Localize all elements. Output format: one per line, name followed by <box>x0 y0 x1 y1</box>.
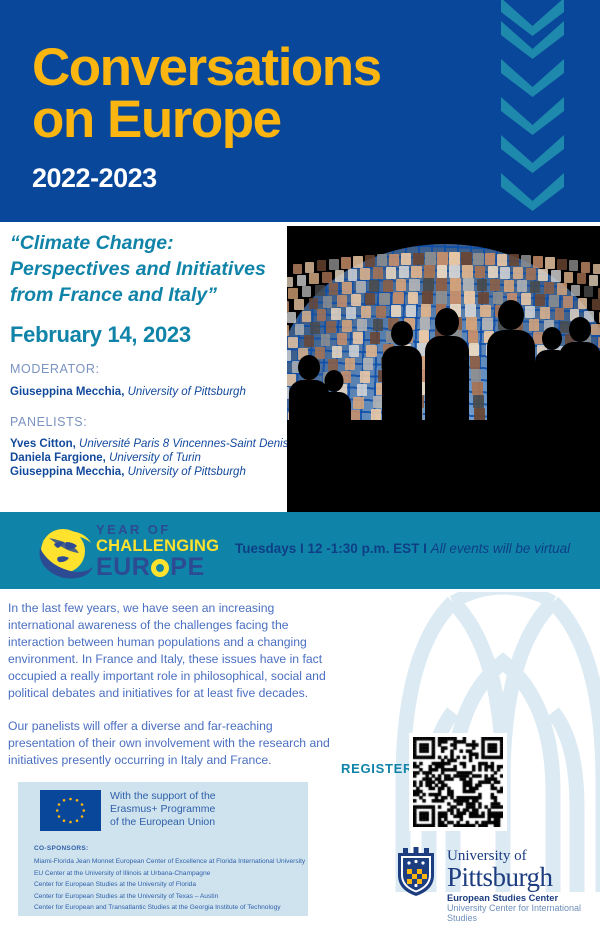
eu-support-line-1: With the support of the <box>110 790 216 803</box>
panelist-name: Yves Citton, <box>10 438 76 450</box>
list-item: EU Center at the University of Illinois … <box>34 868 302 880</box>
list-item: Miami-Florida Jean Monnet European Cente… <box>34 856 302 868</box>
moderator-label: MODERATOR: <box>10 362 100 376</box>
panelist-affiliation: Université Paris 8 Vincennes-Saint Denis <box>79 438 288 450</box>
list-item: Center for European Studies at the Unive… <box>34 891 302 903</box>
title-line-2: on Europe <box>32 94 462 146</box>
cosponsors-heading: CO-SPONSORS: <box>34 845 89 852</box>
event-info-panel: “Climate Change: Perspectives and Initia… <box>0 222 287 512</box>
sponsors-panel: With the support of the Erasmus+ Program… <box>18 782 308 916</box>
talk-title-line-3: from France and Italy” <box>10 282 290 308</box>
panelist-name: Giuseppina Mecchia, <box>10 466 124 478</box>
talk-title-line-2: Perspectives and Initiatives <box>10 256 290 282</box>
description-text: In the last few years, we have seen an i… <box>8 600 338 785</box>
challenging-europe-wordmark: YEAR OF CHALLENGING EUR PE <box>96 523 226 580</box>
challenging-europe-logo: YEAR OF CHALLENGING EUR PE <box>34 516 224 586</box>
schedule-time: Tuesdays I 12 -1:30 p.m. EST I <box>235 541 431 556</box>
pitt-ucis-label: University Center for International Stud… <box>447 903 595 923</box>
eu-flag-icon <box>40 790 101 831</box>
talk-title-line-1: “Climate Change: <box>10 230 290 256</box>
panelist-affiliation: University of Pittsburgh <box>128 466 246 478</box>
chevron-down-icon <box>495 19 570 59</box>
title-line-1: Conversations <box>32 42 462 94</box>
logo-europe-prefix: EUR <box>96 555 150 580</box>
event-date: February 14, 2023 <box>10 322 191 348</box>
season-label: 2022-2023 <box>32 163 157 194</box>
eu-support-text: With the support of the Erasmus+ Program… <box>110 790 216 829</box>
moderator-entry: Giuseppina Mecchia, University of Pittsb… <box>10 385 246 400</box>
cosponsors-list: Miami-Florida Jean Monnet European Cente… <box>34 856 302 914</box>
panelists-label: PANELISTS: <box>10 415 87 429</box>
header-banner: Conversations on Europe 2022-2023 <box>0 0 600 222</box>
logo-line-year-of: YEAR OF <box>96 523 226 537</box>
description-paragraph-1: In the last few years, we have seen an i… <box>8 600 338 702</box>
schedule-text: Tuesdays I 12 -1:30 p.m. EST I All event… <box>235 541 570 556</box>
eu-support-line-2: Erasmus+ Programme <box>110 803 216 816</box>
logo-europe-suffix: PE <box>170 555 204 580</box>
eu-support-line-3: of the European Union <box>110 816 216 829</box>
pitt-european-studies-center-label: European Studies Center <box>447 893 558 903</box>
chevron-decoration <box>495 0 575 226</box>
talk-title: “Climate Change: Perspectives and Initia… <box>10 230 290 308</box>
logo-europe-o-ring <box>151 559 169 577</box>
logo-line-europe: EUR PE <box>96 555 226 580</box>
pitt-name-label: Pittsburgh <box>447 862 553 892</box>
schedule-note: All events will be virtual <box>431 541 571 556</box>
panelist-entry: Daniela Fargione, University of Turin <box>10 451 201 466</box>
list-item: Center for European and Transatlantic St… <box>34 902 302 914</box>
description-paragraph-2: Our panelists will offer a diverse and f… <box>8 718 338 769</box>
moderator-name: Giuseppina Mecchia, <box>10 386 124 398</box>
page-title: Conversations on Europe <box>32 42 462 146</box>
panelist-entry: Giuseppina Mecchia, University of Pittsb… <box>10 465 246 480</box>
chevron-down-icon <box>495 133 570 173</box>
university-of-pittsburgh-logo: University of Pittsburgh European Studie… <box>395 845 595 917</box>
register-label: REGISTER <box>341 761 413 776</box>
list-item: Center for European Studies at the Unive… <box>34 879 302 891</box>
moderator-affiliation: University of Pittsburgh <box>128 386 246 398</box>
chevron-down-icon <box>495 171 570 211</box>
schedule-banner: YEAR OF CHALLENGING EUR PE Tuesdays I 12… <box>0 512 600 589</box>
pitt-shield-icon <box>395 847 437 897</box>
panelist-name: Daniela Fargione, <box>10 452 106 464</box>
chevron-down-icon <box>495 57 570 97</box>
panelist-entry: Yves Citton, Université Paris 8 Vincenne… <box>10 437 288 452</box>
event-photo <box>287 226 600 512</box>
globe-icon <box>36 524 94 580</box>
qr-code-icon[interactable] <box>409 733 507 831</box>
chevron-down-icon <box>495 95 570 135</box>
qr-code-canvas[interactable] <box>413 737 503 827</box>
panelist-affiliation: University of Turin <box>109 452 201 464</box>
